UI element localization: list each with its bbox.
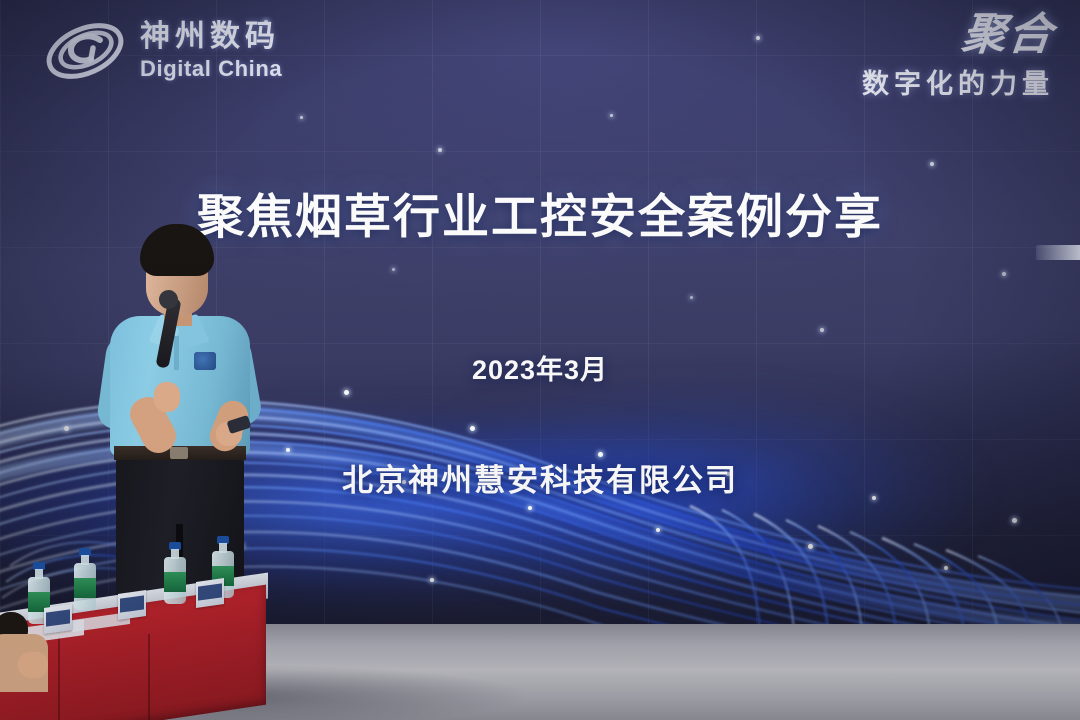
water-bottle xyxy=(164,542,186,604)
slogan-sub: 数字化的力量 xyxy=(862,62,1054,101)
light-particle xyxy=(64,426,69,431)
name-card-strip xyxy=(198,583,222,600)
light-particle xyxy=(470,426,475,431)
slogan-main: 聚合 xyxy=(860,14,1056,56)
light-particle xyxy=(808,544,813,549)
light-particle xyxy=(286,448,290,452)
name-card xyxy=(196,578,224,608)
belt-buckle-icon xyxy=(170,447,188,459)
water-bottle xyxy=(74,548,96,610)
tablecloth-fold xyxy=(148,634,150,720)
light-particle xyxy=(344,390,349,395)
light-particle xyxy=(392,268,395,271)
attendee-hand xyxy=(18,652,48,678)
decorative-bar xyxy=(1036,245,1080,260)
light-particle xyxy=(430,578,434,582)
light-particle xyxy=(820,328,824,332)
name-card xyxy=(118,590,146,620)
light-particle xyxy=(438,148,442,152)
brand-name-cn: 神州数码 xyxy=(140,22,282,52)
speaker-shirt-placket xyxy=(174,336,179,370)
conference-stage-photo: 神州数码 Digital China 聚合 数字化的力量 聚焦烟草行业工控安全案… xyxy=(0,0,1080,720)
brand-logo: 神州数码 Digital China xyxy=(44,18,282,84)
light-particle xyxy=(756,36,760,40)
speaker-hair xyxy=(140,224,214,276)
light-particle xyxy=(1002,272,1006,276)
light-particle xyxy=(930,162,934,166)
light-particle xyxy=(690,296,693,299)
name-card-strip xyxy=(120,595,144,612)
light-particle xyxy=(528,506,532,510)
light-particle xyxy=(610,114,613,117)
shirt-logo-badge-icon xyxy=(194,352,216,370)
light-particle xyxy=(944,566,948,570)
bottle-label xyxy=(164,572,186,592)
speaker-left-hand xyxy=(154,382,180,412)
bottle-label xyxy=(74,578,96,598)
event-slogan: 聚合 数字化的力量 xyxy=(862,14,1054,101)
seated-attendee xyxy=(0,612,64,698)
light-particle xyxy=(1012,518,1017,523)
light-particle xyxy=(656,528,660,532)
brand-name-en: Digital China xyxy=(140,58,282,80)
light-particle xyxy=(300,116,303,119)
digital-china-swirl-icon xyxy=(44,18,126,84)
